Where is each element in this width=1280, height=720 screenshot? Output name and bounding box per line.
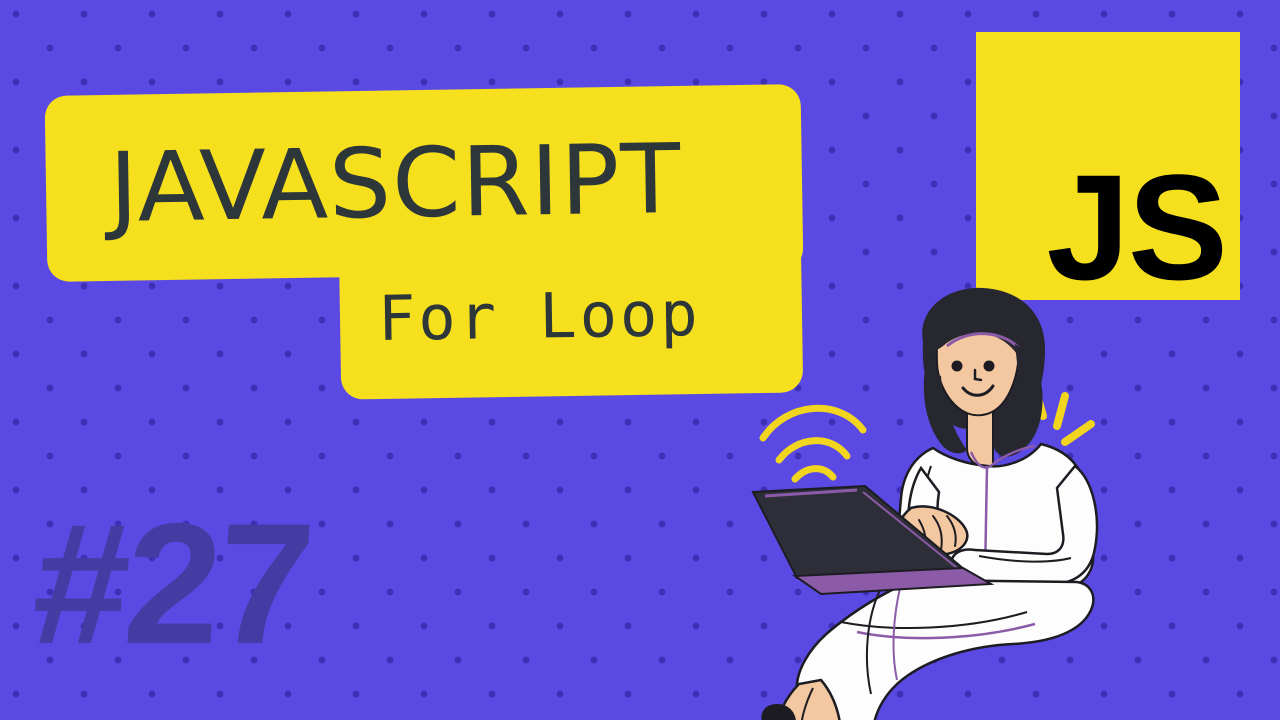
javascript-logo: JS [976, 32, 1240, 300]
eye-left [952, 361, 963, 372]
episode-number: #27 [28, 498, 315, 670]
woman-with-laptop-illustration [735, 280, 1135, 720]
main-title-text: JAVASCRIPT [45, 131, 682, 237]
subtitle-text: For Loop [340, 283, 702, 351]
video-thumbnail: #27 For Loop JAVASCRIPT JS [0, 0, 1280, 720]
trousers [797, 580, 1094, 720]
wifi-signal-arcs [763, 408, 863, 479]
motion-lines [1035, 388, 1091, 442]
eye-right [984, 361, 995, 372]
title-plate: JAVASCRIPT [45, 84, 804, 282]
person-figure [753, 288, 1097, 720]
